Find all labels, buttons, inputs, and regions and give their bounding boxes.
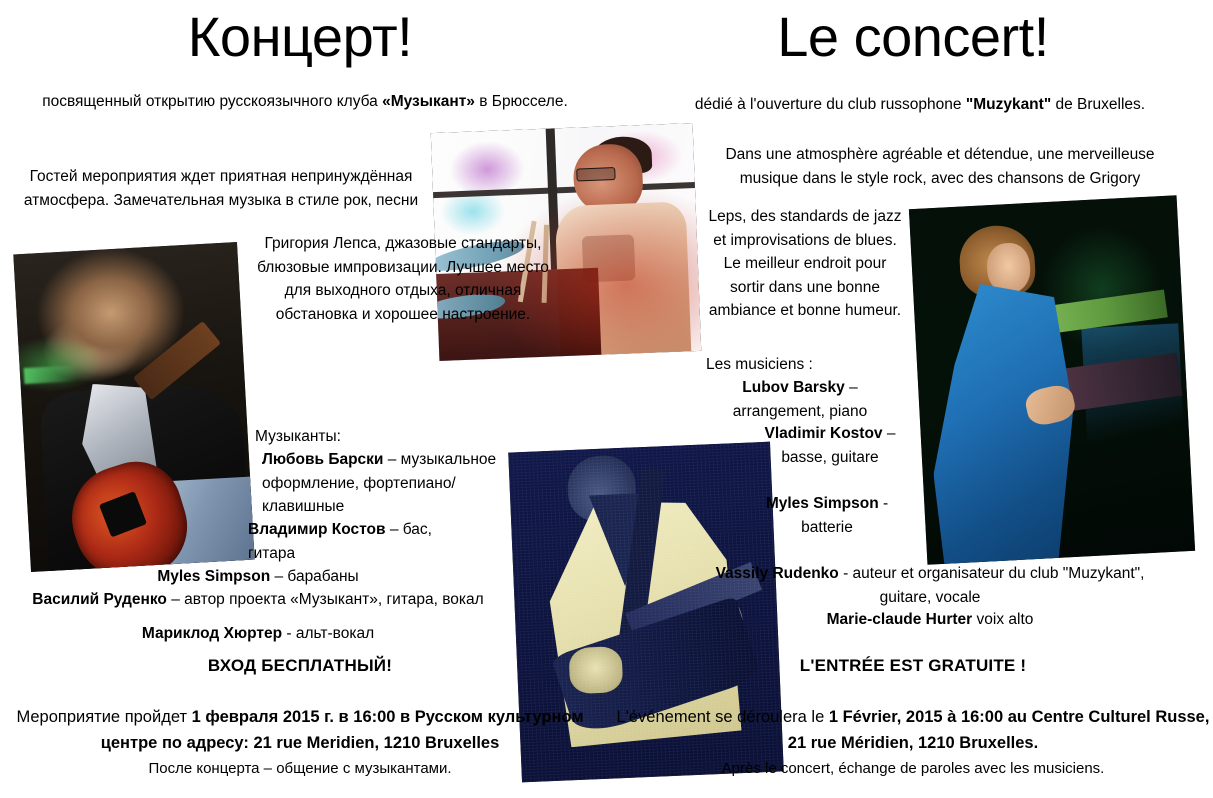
musician-row-russian: Василий Руденко – автор проекта «Музыкан… (0, 588, 516, 612)
photo-guitarist-left (13, 242, 254, 572)
paragraph-french-1: Dans une atmosphère agréable et détendue… (700, 143, 1180, 190)
subtitle-french-part1: dédié à l'ouverture du club russophone (695, 96, 966, 113)
photo-pianist (909, 195, 1195, 565)
musician-name: Мариклод Хюртер (142, 625, 282, 642)
paragraph-french-2: Leps, des standards de jazz et improvisa… (705, 205, 905, 323)
musicians-heading-russian: Музыканты: (255, 425, 515, 449)
title-french: Le concert! (613, 8, 1213, 67)
musician-row-french: Vladimir Kostov – basse, guitare (760, 422, 900, 469)
paragraph-russian-1: Гостей мероприятия ждет приятная неприну… (6, 165, 436, 212)
musician-row-russian: Владимир Костов – бас, гитара (248, 518, 478, 565)
musician-name: Владимир Костов (248, 521, 386, 538)
event-info-russian-prefix: Мероприятие пройдет (16, 708, 191, 726)
musician-role: voix alto (972, 611, 1033, 628)
event-info-russian-after: После концерта – общение с музыкантами. (148, 760, 451, 777)
musician-row-russian: Мариклод Хюртер - альт-вокал (0, 622, 516, 646)
subtitle-french-part2: de Bruxelles. (1051, 96, 1145, 113)
subtitle-russian: посвященный открытию русскоязычного клуб… (20, 90, 590, 114)
musician-role: - auteur et organisateur du club "Muzyka… (839, 565, 1145, 606)
event-info-french-after: Après le concert, échange de paroles ave… (722, 760, 1105, 777)
free-entry-french: L'ENTRÉE EST GRATUITE ! (613, 653, 1213, 679)
musician-name: Vassily Rudenko (716, 565, 839, 582)
musicians-heading-french: Les musiciens : (706, 353, 926, 377)
subtitle-russian-part2: в Брюсселе. (475, 93, 568, 110)
musician-name: Василий Руденко (32, 591, 167, 608)
musician-name: Lubov Barsky (742, 379, 845, 396)
event-info-russian: Мероприятие пройдет 1 февраля 2015 г. в … (0, 705, 600, 782)
musician-row-russian: Любовь Барски – музыкальное оформление, … (262, 448, 522, 519)
event-info-french: L'événement se déroulera le 1 Février, 2… (613, 705, 1213, 782)
subtitle-french-club: "Muzykant" (966, 96, 1051, 113)
musician-name: Myles Simpson (766, 495, 879, 512)
musician-role: – барабаны (270, 568, 358, 585)
event-info-french-prefix: L'événement se déroulera le (617, 708, 829, 726)
free-entry-russian: ВХОД БЕСПЛАТНЫЙ! (0, 653, 600, 679)
musician-row-french: Myles Simpson - batterie (757, 492, 897, 539)
musician-role: – автор проекта «Музыкант», гитара, вока… (167, 591, 484, 608)
musician-name: Vladimir Kostov (765, 425, 883, 442)
event-info-french-details: 1 Février, 2015 à 16:00 au Centre Cultur… (788, 708, 1210, 752)
musician-row-french: Lubov Barsky – arrangement, piano (700, 376, 900, 423)
musician-row-russian: Myles Simpson – барабаны (0, 565, 516, 589)
musician-name: Myles Simpson (157, 568, 270, 585)
musician-name: Marie-claude Hurter (827, 611, 973, 628)
title-russian: Концерт! (0, 8, 600, 67)
subtitle-french: dédié à l'ouverture du club russophone "… (640, 93, 1200, 117)
musician-row-french: Marie-claude Hurter voix alto (700, 608, 1160, 632)
paragraph-russian-2: Григория Лепса, джазовые стандарты, блюз… (248, 232, 558, 326)
musician-row-french: Vassily Rudenko - auteur et organisateur… (700, 562, 1160, 609)
subtitle-russian-club: «Музыкант» (382, 93, 475, 110)
subtitle-russian-part1: посвященный открытию русскоязычного клуб… (42, 93, 382, 110)
concert-poster: Концерт! посвященный открытию русскоязыч… (0, 0, 1213, 798)
musician-role: - альт-вокал (282, 625, 374, 642)
musician-name: Любовь Барски (262, 451, 383, 468)
